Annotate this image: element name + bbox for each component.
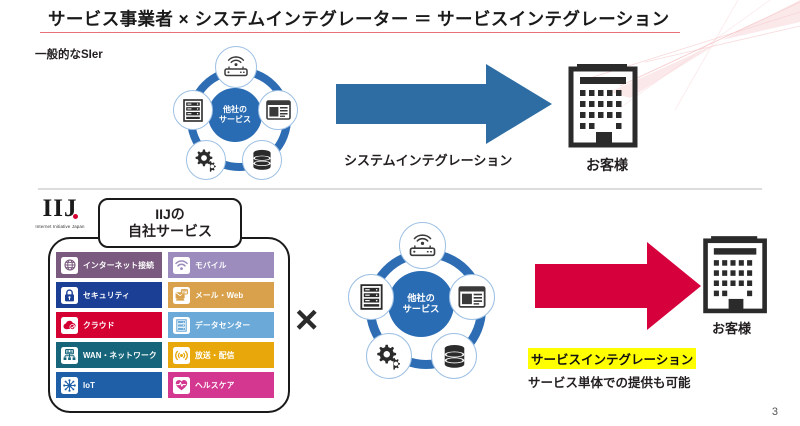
mail-web-icon [173,287,190,304]
top-customer-label: お客様 [586,155,628,175]
hub-line-1: 他社の [223,105,247,115]
node-browser-window [258,90,298,130]
service-standalone-note: サービス単体での提供も可能 [528,372,691,391]
broadcast-icon [173,347,190,364]
section-divider [38,188,762,190]
service-tile[interactable]: モバイル [168,252,274,278]
wifi-icon [173,257,190,274]
lock-icon [61,287,78,304]
service-tile[interactable]: IoT [56,372,162,398]
service-tile[interactable]: インターネット接続 [56,252,162,278]
router-icon [408,234,437,258]
caption-line-2: 自社サービス [128,223,212,240]
service-tile-label: WAN・ネットワーク [83,350,157,361]
title-underline [40,32,680,33]
browser-window-icon [266,100,291,120]
service-tile[interactable]: WAN・ネットワーク [56,342,162,368]
bottom-customer-building-icon [700,232,772,316]
bottom-integration-arrow [535,240,703,332]
network-icon [61,347,78,364]
iij-logo-mark: IIJ [43,196,78,221]
service-tile-label: IoT [83,381,95,390]
service-tile-label: クラウド [83,320,115,331]
hub-line-2: サービス [219,115,251,125]
globe-icon [61,257,78,274]
service-tile-label: ヘルスケア [195,380,234,391]
iij-logo: IIJ Internet Initiative Japan [18,196,102,229]
node-server-rack [348,274,394,320]
hub-line-1: 他社の [407,293,435,305]
node-database [242,140,282,180]
database-icon [443,344,466,369]
generic-sier-label: 一般的なSIer [35,46,103,62]
gears-icon [193,148,219,172]
service-tile-label: セキュリティ [83,290,130,301]
iot-icon [61,377,78,394]
diagram-hub: 他社の サービス [388,271,454,337]
router-icon [223,56,249,78]
service-tile-label: メール・Web [195,290,243,301]
service-tile[interactable]: クラウド [56,312,162,338]
node-router [215,46,257,88]
top-integration-arrow [336,62,554,146]
server-rack-icon [360,284,383,310]
multiply-symbol: × [295,300,318,340]
node-router [399,222,446,269]
service-tile[interactable]: データセンター [168,312,274,338]
bottom-customer-label: お客様 [712,318,751,337]
node-server-rack [173,90,213,130]
iij-logo-text: IIJ [43,195,78,222]
service-tile-label: モバイル [195,260,227,271]
iij-services-caption: IIJの 自社サービス [98,198,242,248]
node-browser-window [449,274,495,320]
top-arrow-label: システムインテグレーション [344,150,512,169]
slide-canvas: サービス事業者 × システムインテグレーター ＝ サービスインテグレーション 一… [0,0,800,426]
iij-logo-tagline: Internet Initiative Japan [18,224,102,229]
service-tile[interactable]: メール・Web [168,282,274,308]
node-database [431,333,477,379]
browser-window-icon [458,286,486,308]
page-title: サービス事業者 × システムインテグレーター ＝ サービスインテグレーション [48,6,670,31]
service-tile-label: データセンター [195,320,250,331]
iij-logo-dot [73,214,78,219]
node-gears [366,333,412,379]
top-service-circle-diagram: 他社の サービス [170,50,300,180]
database-icon [252,149,272,171]
node-gears [186,140,226,180]
top-customer-building-icon [565,60,643,150]
service-integration-highlight: サービスインテグレーション [528,348,696,369]
diagram-hub: 他社の サービス [208,88,262,142]
datacenter-icon [173,317,190,334]
iij-services-grid: インターネット接続モバイルセキュリティメール・WebクラウドデータセンターWAN… [56,252,278,398]
server-rack-icon [183,99,203,122]
hub-line-2: サービス [403,304,440,316]
service-tile-label: 放送・配信 [195,350,234,361]
heart-pulse-icon [173,377,190,394]
caption-line-1: IIJの [155,206,185,223]
service-tile[interactable]: 放送・配信 [168,342,274,368]
bottom-service-circle-diagram: 他社の サービス [345,228,497,380]
gears-icon [374,343,404,370]
service-tile[interactable]: セキュリティ [56,282,162,308]
service-tile-label: インターネット接続 [83,260,154,271]
service-tile[interactable]: ヘルスケア [168,372,274,398]
cloud-icon [61,317,78,334]
page-number: 3 [772,406,778,418]
